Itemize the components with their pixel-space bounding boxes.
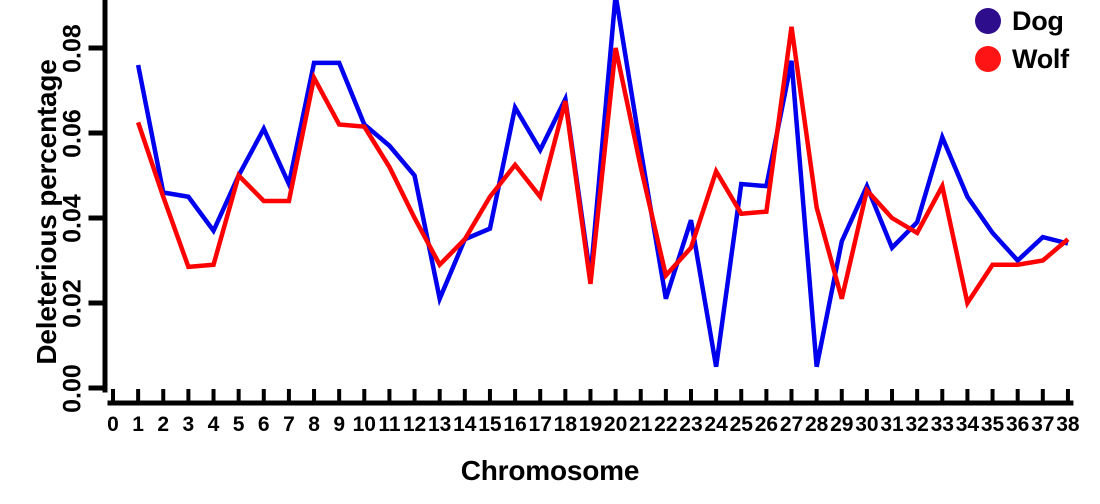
plot-area	[0, 0, 1100, 504]
data-series-layer	[138, 0, 1068, 367]
legend-marker-icon	[975, 8, 1001, 34]
legend-item-dog[interactable]: Dog	[975, 2, 1069, 40]
axis-lines	[105, 0, 1071, 403]
legend-label: Dog	[1012, 6, 1064, 37]
series-line-wolf	[138, 27, 1068, 303]
legend-label: Wolf	[1012, 44, 1069, 75]
legend-marker-icon	[975, 46, 1001, 72]
legend-item-wolf[interactable]: Wolf	[975, 40, 1069, 78]
legend: DogWolf	[975, 2, 1069, 78]
chart-container: Deleterious percentage Chromosome 0.000.…	[0, 0, 1100, 504]
